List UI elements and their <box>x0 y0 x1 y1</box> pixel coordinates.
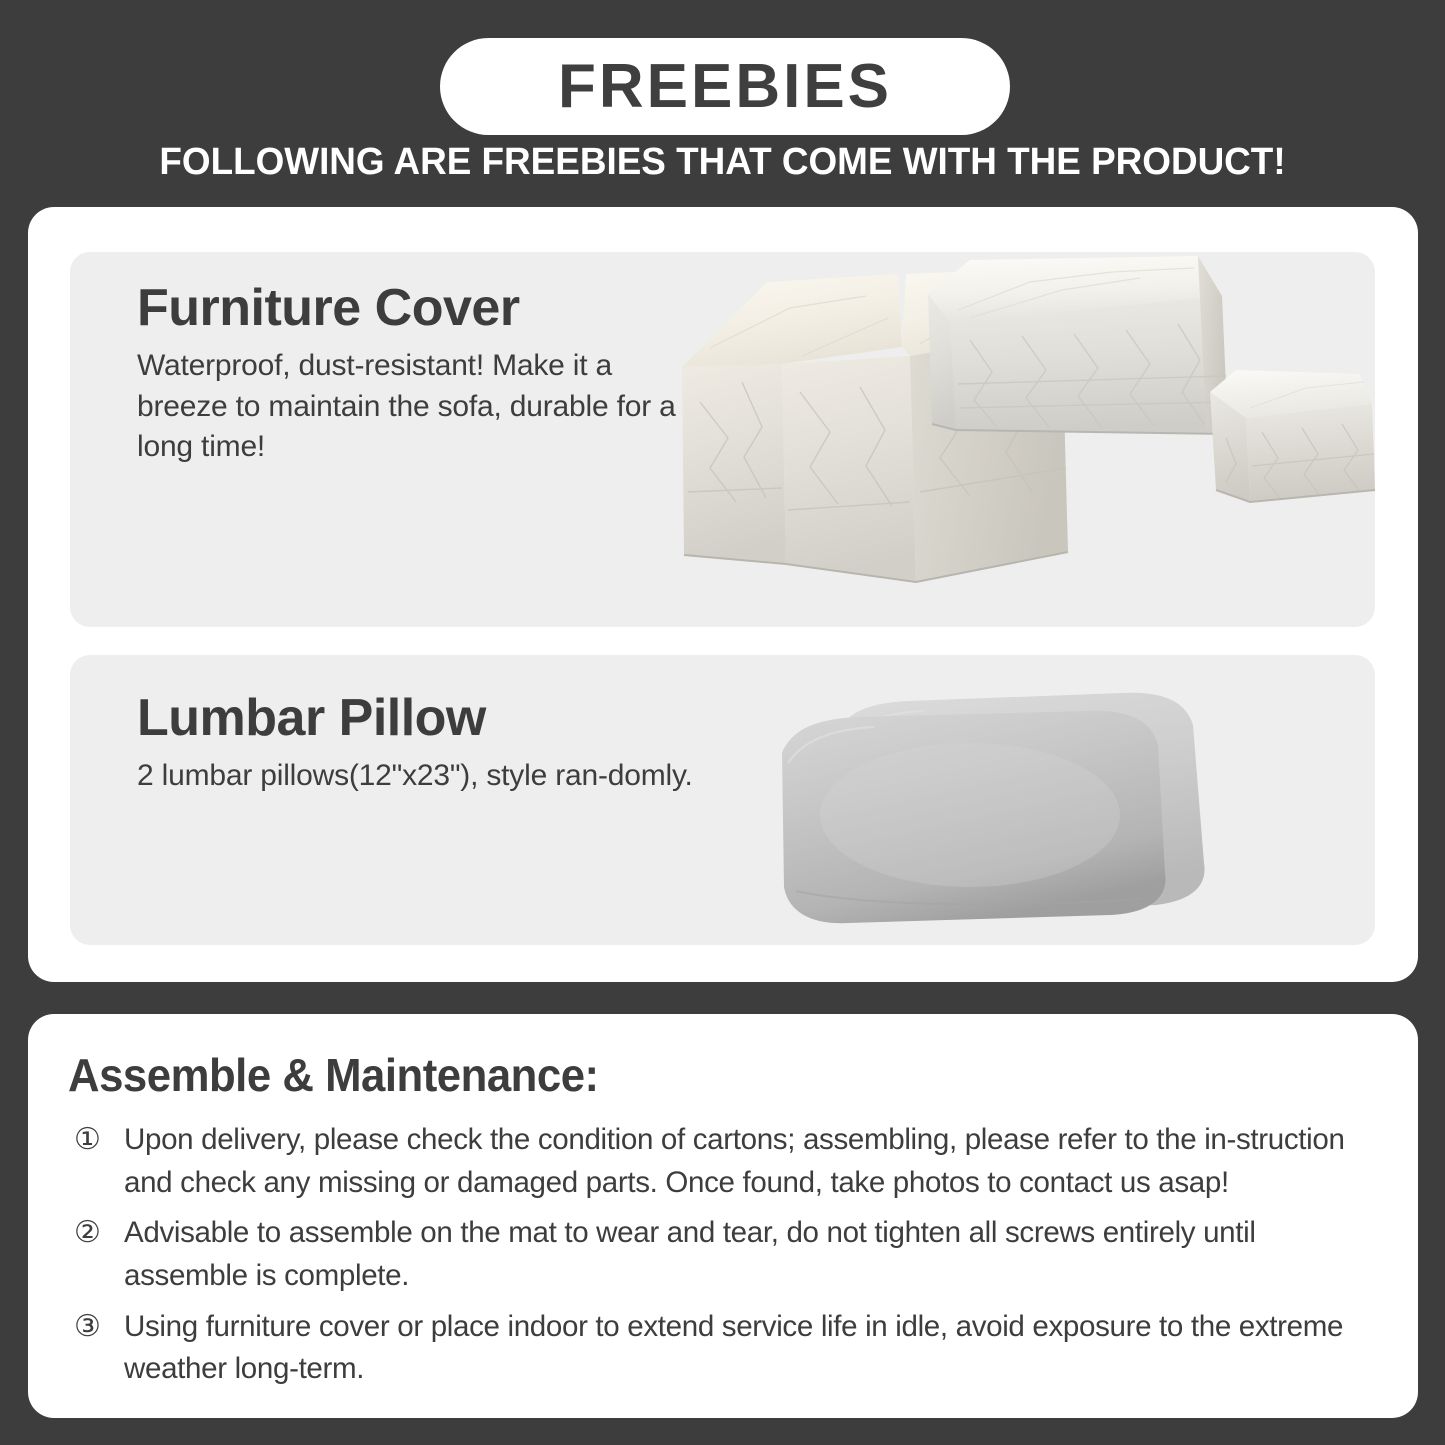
header: FREEBIES FOLLOWING ARE FREEBIES THAT COM… <box>0 0 1445 196</box>
lumbar-pillow-text-block: Lumbar Pillow 2 lumbar pillows(12"x23"),… <box>137 687 697 797</box>
list-item-text: Using furniture cover or place indoor to… <box>124 1306 1359 1391</box>
lumbar-pillow-title: Lumbar Pillow <box>137 687 697 750</box>
lumbar-pillow-photo <box>670 655 1375 945</box>
furniture-cover-description: Waterproof, dust-resistant! Make it a br… <box>137 346 697 468</box>
furniture-cover-photo <box>670 252 1375 627</box>
freebies-badge: FREEBIES <box>440 38 1010 135</box>
pillow-front <box>782 711 1165 923</box>
lumbar-pillow-description: 2 lumbar pillows(12"x23"), style ran-dom… <box>137 756 697 797</box>
list-item-marker: ① <box>68 1119 124 1162</box>
freebie-panel-lumbar-pillow: Lumbar Pillow 2 lumbar pillows(12"x23"),… <box>70 655 1375 945</box>
header-subtitle: FOLLOWING ARE FREEBIES THAT COME WITH TH… <box>22 140 1424 186</box>
freebies-card: Furniture Cover Waterproof, dust-resista… <box>28 207 1418 982</box>
list-item: ① Upon delivery, please check the condit… <box>68 1119 1378 1204</box>
cover-piece-long-sofa <box>928 256 1228 434</box>
list-item-text: Advisable to assemble on the mat to wear… <box>124 1212 1359 1297</box>
cover-piece-ottoman <box>1210 370 1375 502</box>
list-item: ③ Using furniture cover or place indoor … <box>68 1306 1378 1391</box>
freebies-badge-label: FREEBIES <box>558 56 892 118</box>
maintenance-card: Assemble & Maintenance: ① Upon delivery,… <box>28 1014 1418 1418</box>
maintenance-list: ① Upon delivery, please check the condit… <box>68 1119 1378 1391</box>
maintenance-title: Assemble & Maintenance: <box>68 1048 1313 1103</box>
freebie-panel-furniture-cover: Furniture Cover Waterproof, dust-resista… <box>70 252 1375 627</box>
furniture-cover-title: Furniture Cover <box>137 277 697 340</box>
list-item-marker: ③ <box>68 1306 124 1349</box>
list-item-marker: ② <box>68 1212 124 1255</box>
list-item-text: Upon delivery, please check the conditio… <box>124 1119 1359 1204</box>
list-item: ② Advisable to assemble on the mat to we… <box>68 1212 1378 1297</box>
furniture-cover-text-block: Furniture Cover Waterproof, dust-resista… <box>137 277 697 468</box>
infographic-page: FREEBIES FOLLOWING ARE FREEBIES THAT COM… <box>0 0 1445 1445</box>
